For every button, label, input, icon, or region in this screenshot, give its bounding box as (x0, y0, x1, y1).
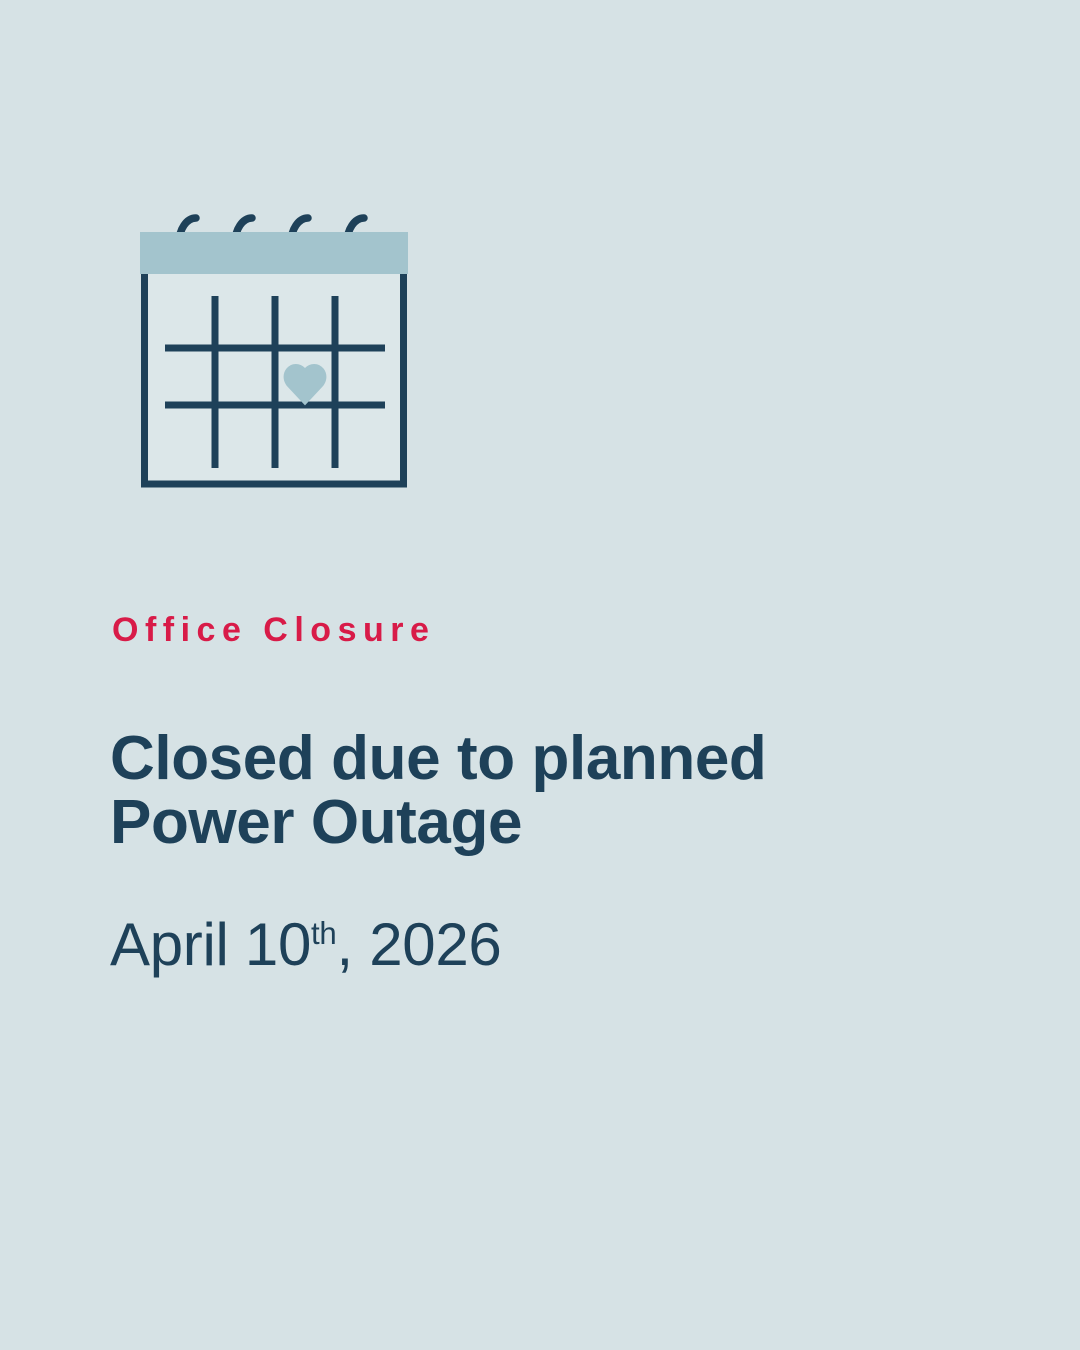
date-separator: , (336, 911, 369, 978)
date-month: April (110, 911, 229, 978)
calendar-icon (110, 200, 430, 500)
closure-notice-card: Office Closure Closed due to planned Pow… (0, 0, 1080, 1350)
closure-date: April 10th, 2026 (110, 913, 502, 978)
date-ordinal-suffix: th (311, 916, 336, 951)
eyebrow-label: Office Closure (112, 613, 435, 647)
date-year: 2026 (369, 911, 501, 978)
headline-line-2: Power Outage (110, 791, 766, 855)
headline-line-1: Closed due to planned (110, 727, 766, 791)
calendar-header-band (140, 232, 408, 274)
date-space (229, 911, 245, 978)
date-day: 10 (245, 911, 311, 978)
page-title: Closed due to planned Power Outage (110, 727, 766, 855)
